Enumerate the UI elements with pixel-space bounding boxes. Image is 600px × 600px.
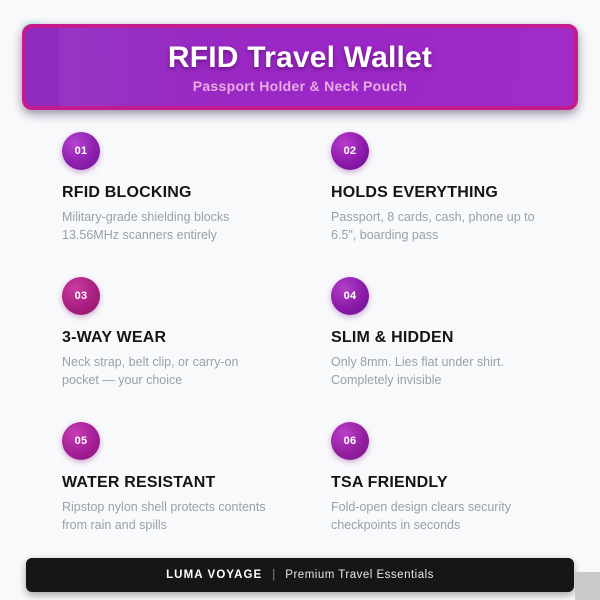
feature-description-06: Fold-open design clears security checkpo… xyxy=(331,498,546,534)
feature-description-02: Passport, 8 cards, cash, phone up to 6.5… xyxy=(331,208,546,244)
feature-description-05: Ripstop nylon shell protects contents fr… xyxy=(62,498,277,534)
feature-badge-01: 01 xyxy=(62,132,100,170)
header-content: RFID Travel Wallet Passport Holder & Nec… xyxy=(26,28,574,106)
feature-badge-04: 04 xyxy=(331,277,369,315)
infographic-page: RFID Travel Wallet Passport Holder & Nec… xyxy=(0,0,600,600)
header-banner: RFID Travel Wallet Passport Holder & Nec… xyxy=(22,24,578,110)
feature-badge-02: 02 xyxy=(331,132,369,170)
feature-description-01: Military-grade shielding blocks 13.56MHz… xyxy=(62,208,277,244)
feature-item-03: 03 3-WAY WEAR Neck strap, belt clip, or … xyxy=(62,277,327,422)
feature-grid: 01 RFID BLOCKING Military-grade shieldin… xyxy=(0,132,600,567)
feature-title-05: WATER RESISTANT xyxy=(62,474,327,492)
feature-description-03: Neck strap, belt clip, or carry-on pocke… xyxy=(62,353,277,389)
feature-item-01: 01 RFID BLOCKING Military-grade shieldin… xyxy=(62,132,327,277)
feature-item-05: 05 WATER RESISTANT Ripstop nylon shell p… xyxy=(62,422,327,567)
feature-title-01: RFID BLOCKING xyxy=(62,184,327,202)
feature-item-06: 06 TSA FRIENDLY Fold-open design clears … xyxy=(331,422,596,567)
footer-brand: LUMA VOYAGE xyxy=(166,569,262,581)
feature-badge-05: 05 xyxy=(62,422,100,460)
feature-badge-06: 06 xyxy=(331,422,369,460)
footer-tagline: Premium Travel Essentials xyxy=(285,569,434,581)
page-title: RFID Travel Wallet xyxy=(168,41,432,75)
footer-separator: | xyxy=(272,569,275,581)
feature-item-02: 02 HOLDS EVERYTHING Passport, 8 cards, c… xyxy=(331,132,596,277)
page-subtitle: Passport Holder & Neck Pouch xyxy=(193,78,408,94)
feature-description-04: Only 8mm. Lies flat under shirt. Complet… xyxy=(331,353,546,389)
header-band: RFID Travel Wallet Passport Holder & Nec… xyxy=(22,24,578,110)
corner-artifact xyxy=(575,572,600,600)
feature-title-06: TSA FRIENDLY xyxy=(331,474,596,492)
feature-item-04: 04 SLIM & HIDDEN Only 8mm. Lies flat und… xyxy=(331,277,596,422)
feature-badge-03: 03 xyxy=(62,277,100,315)
feature-title-03: 3-WAY WEAR xyxy=(62,329,327,347)
feature-title-04: SLIM & HIDDEN xyxy=(331,329,596,347)
footer-bar: LUMA VOYAGE | Premium Travel Essentials xyxy=(26,558,574,592)
feature-title-02: HOLDS EVERYTHING xyxy=(331,184,596,202)
